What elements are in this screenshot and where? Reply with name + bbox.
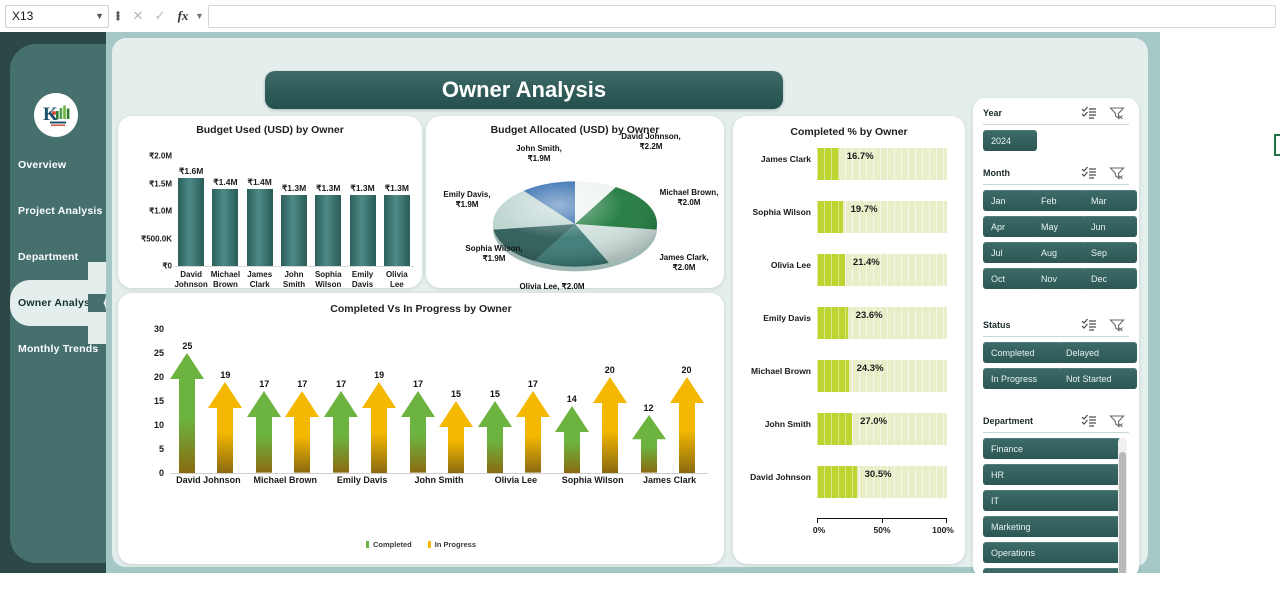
completed-percent-label: Emily Davis	[739, 313, 811, 323]
legend-swatch-completed	[366, 541, 369, 548]
slicer-item-jul[interactable]: Jul	[983, 242, 1037, 263]
slicer-item-dec[interactable]: Dec	[1083, 268, 1137, 289]
bar-chart-x-label: MichaelBrown	[208, 270, 242, 290]
axis-label-0: 0%	[813, 525, 825, 535]
slicer-year: Year2024	[973, 104, 1139, 126]
sheet-right-blank	[1160, 32, 1280, 611]
completed-percent-value: 24.3%	[857, 363, 884, 374]
bar-chart-value-label: ₹1.3M	[350, 183, 374, 194]
arrow-chart-value-label: 15	[478, 389, 512, 399]
clear-filter-icon[interactable]	[1109, 414, 1127, 430]
arrow-shape	[439, 401, 473, 473]
arrow-shape	[362, 382, 396, 473]
arrow-chart-value-label: 17	[516, 379, 550, 389]
formula-input[interactable]	[208, 5, 1276, 28]
arrow-chart-bar-in-progress: 17	[285, 391, 319, 473]
insert-function-icon[interactable]: fx	[171, 8, 195, 24]
arrow-chart-bar-completed: 17	[324, 391, 358, 473]
name-box-value: X13	[12, 9, 33, 23]
completed-percent-value: 23.6%	[856, 310, 883, 321]
arrow-chart-y-tick: 30	[154, 324, 164, 334]
bar-chart-column: ₹1.3M	[350, 156, 376, 266]
chart-card-completed-percent: Completed % by Owner James Clark16.7%Sop…	[733, 116, 965, 564]
arrow-chart-x-label: James Clark	[615, 475, 725, 485]
slicer-item-oct[interactable]: Oct	[983, 268, 1037, 289]
bar-chart-bar	[247, 189, 273, 266]
name-box[interactable]: X13 ▼	[5, 5, 109, 28]
arrow-shape	[478, 401, 512, 473]
completed-percent-value: 30.5%	[865, 469, 892, 480]
clear-filter-icon[interactable]	[1109, 106, 1127, 122]
arrow-chart-bar-in-progress: 17	[516, 391, 550, 473]
bar-chart-column: ₹1.6M	[178, 156, 204, 266]
bar-chart-column: ₹1.4M	[247, 156, 273, 266]
slicer-item-may[interactable]: May	[1033, 216, 1087, 237]
slicer-item-sep[interactable]: Sep	[1083, 242, 1137, 263]
excel-formula-bar: X13 ▼ ••• ✕ ✓ fx ▼	[0, 0, 1280, 33]
slicer-panel: Year2024MonthJanFebMarAprMayJunJulAugSep…	[973, 98, 1139, 578]
arrow-chart-group: 1420Sophia Wilson	[554, 329, 631, 473]
slicer-item-marketing[interactable]: Marketing	[983, 516, 1121, 537]
completed-percent-fill	[817, 413, 852, 445]
accept-icon[interactable]: ✓	[149, 8, 171, 24]
bar-chart-column: ₹1.3M	[315, 156, 341, 266]
slicer-department: DepartmentFinanceHRITMarketingOperations…	[973, 412, 1139, 434]
bar-chart-y-tick: ₹0	[162, 262, 172, 271]
arrow-chart-value-label: 17	[324, 379, 358, 389]
slicer-item-mar[interactable]: Mar	[1083, 190, 1137, 211]
multi-select-icon[interactable]	[1081, 106, 1099, 122]
arrow-chart-value-label: 12	[632, 403, 666, 413]
sidebar-item-owner-analysis[interactable]: Owner Analysis	[10, 280, 106, 326]
slicer-item-apr[interactable]: Apr	[983, 216, 1037, 237]
arrow-chart-group: 1517Olivia Lee	[477, 329, 554, 473]
sidebar-item-monthly-trends[interactable]: Monthly Trends	[10, 326, 106, 372]
slicer-status: StatusCompletedDelayedIn ProgressNot Sta…	[973, 316, 1139, 338]
completed-percent-value: 21.4%	[853, 257, 880, 268]
bar-chart-y-tick: ₹500.0K	[141, 234, 172, 243]
pie-label-olivia-lee: Olivia Lee, ₹2.0M	[514, 282, 590, 292]
arrow-chart-bar-in-progress: 19	[362, 382, 396, 473]
bar-chart-x-label: OliviaLee	[380, 270, 414, 290]
bar-chart-column: ₹1.4M	[212, 156, 238, 266]
arrow-chart-y-tick: 20	[154, 372, 164, 382]
chart-card-completed-vs-inprogress: Completed Vs In Progress by Owner 302520…	[118, 293, 724, 564]
arrow-shape	[401, 391, 435, 473]
completed-percent-fill	[817, 466, 857, 498]
chart-card-budget-allocated: Budget Allocated (USD) by Owner	[426, 116, 724, 288]
completed-percent-fill	[817, 360, 849, 392]
bar-chart-column: ₹1.3M	[384, 156, 410, 266]
slicer-item-completed[interactable]: Completed	[983, 342, 1062, 363]
arrow-chart-bar-completed: 17	[401, 391, 435, 473]
arrow-chart-y-tick: 5	[159, 444, 164, 454]
slicer-item-delayed[interactable]: Delayed	[1058, 342, 1137, 363]
slicer-title: Year	[983, 108, 1002, 118]
slicer-item-hr[interactable]: HR	[983, 464, 1121, 485]
axis-label-50: 50%	[873, 525, 890, 535]
arrow-shape	[670, 377, 704, 473]
bar-chart-bar	[178, 178, 204, 266]
cancel-icon[interactable]: ✕	[127, 8, 149, 24]
bar-chart-column: ₹1.3M	[281, 156, 307, 266]
arrow-shape	[208, 382, 242, 473]
slicer-header: Year	[973, 104, 1139, 126]
slicer-month: MonthJanFebMarAprMayJunJulAugSepOctNovDe…	[973, 164, 1139, 186]
bar-chart-bar	[315, 195, 341, 267]
arrow-chart-y-tick: 15	[154, 396, 164, 406]
bar-chart-value-label: ₹1.4M	[213, 177, 237, 188]
slicer-title: Month	[983, 168, 1010, 178]
sidebar-item-label: Overview	[18, 159, 66, 171]
arrow-chart-value-label: 15	[439, 389, 473, 399]
slicer-divider	[983, 432, 1129, 433]
completed-percent-track	[817, 201, 947, 233]
arrow-chart-value-label: 17	[247, 379, 281, 389]
arrow-chart-bar-completed: 17	[247, 391, 281, 473]
completed-percent-row: Emily Davis23.6%	[733, 301, 965, 345]
bar-chart-y-tick: ₹1.0M	[149, 207, 172, 216]
slicer-title: Department	[983, 416, 1033, 426]
slicer-scrollbar-track[interactable]	[1118, 438, 1127, 578]
arrow-chart-group: 1715John Smith	[401, 329, 478, 473]
bar-chart-x-label: EmilyDavis	[346, 270, 380, 290]
chart-title-completed-percent: Completed % by Owner	[733, 116, 965, 138]
arrow-chart-bar-completed: 25	[170, 353, 204, 473]
dashboard-canvas: K Overview Project Analysis	[0, 32, 1160, 573]
bar-chart-plot-area: ₹1.6M₹1.4M₹1.4M₹1.3M₹1.3M₹1.3M₹1.3M	[174, 156, 414, 267]
bar-chart-value-label: ₹1.3M	[282, 183, 306, 194]
multi-select-icon[interactable]	[1081, 166, 1099, 182]
slicer-scrollbar-thumb[interactable]	[1119, 452, 1126, 578]
legend-label-completed: Completed	[373, 540, 412, 549]
arrow-chart-bar-in-progress: 20	[670, 377, 704, 473]
company-logo: K	[34, 93, 78, 137]
sidebar-item-project-analysis[interactable]: Project Analysis	[10, 188, 106, 234]
slicer-header: Status	[973, 316, 1139, 338]
arrow-chart-bar-completed: 12	[632, 415, 666, 473]
bar-chart-budget-used: ₹2.0M₹1.5M₹1.0M₹500.0K₹0 ₹1.6M₹1.4M₹1.4M…	[118, 138, 422, 288]
arrow-shape	[516, 391, 550, 473]
clear-filter-icon[interactable]	[1109, 318, 1127, 334]
bar-chart-value-label: ₹1.6M	[179, 166, 203, 177]
arrow-chart-bar-in-progress: 15	[439, 401, 473, 473]
bar-chart-bar	[281, 195, 307, 267]
slicer-item-in-progress[interactable]: In Progress	[983, 368, 1062, 389]
arrow-chart-bar-in-progress: 19	[208, 382, 242, 473]
completed-percent-row: Olivia Lee21.4%	[733, 248, 965, 292]
arrow-shape	[555, 406, 589, 473]
completed-percent-label: David Johnson	[739, 472, 811, 482]
bar-chart-value-label: ₹1.4M	[248, 177, 272, 188]
chart-title-completed-vs-inprogress: Completed Vs In Progress by Owner	[118, 293, 724, 315]
completed-percent-label: Michael Brown	[739, 366, 811, 376]
slicer-title: Status	[983, 320, 1011, 330]
slicer-item-feb[interactable]: Feb	[1033, 190, 1087, 211]
completed-percent-fill	[817, 201, 843, 233]
multi-select-icon[interactable]	[1081, 414, 1099, 430]
arrow-chart-group: 1717Michael Brown	[247, 329, 324, 473]
pie-label-james-clark: James Clark, ₹2.0M	[648, 253, 720, 273]
arrow-chart-y-axis: 302520151050	[136, 329, 164, 473]
bar-chart-y-tick: ₹1.5M	[149, 179, 172, 188]
bar-chart-value-label: ₹1.3M	[316, 183, 340, 194]
arrow-chart-legend: Completed In Progress	[118, 540, 724, 549]
bar-chart-y-axis: ₹2.0M₹1.5M₹1.0M₹500.0K₹0	[124, 156, 172, 266]
sidebar-item-overview[interactable]: Overview	[10, 142, 106, 188]
completed-percent-value: 27.0%	[860, 416, 887, 427]
completed-percent-label: James Clark	[739, 154, 811, 164]
arrow-chart-value-label: 17	[401, 379, 435, 389]
formula-expand-chevron-icon[interactable]: ▼	[195, 11, 204, 21]
arrow-chart-group: 2519David Johnson	[170, 329, 247, 473]
slicer-item-2024[interactable]: 2024	[983, 130, 1037, 151]
chart-title-budget-used: Budget Used (USD) by Owner	[118, 116, 422, 136]
axis-tick-100	[946, 518, 947, 523]
pie-label-michael-brown: Michael Brown, ₹2.0M	[658, 188, 720, 208]
bar-chart-y-tick: ₹2.0M	[149, 152, 172, 161]
completed-percent-value: 16.7%	[847, 151, 874, 162]
sheet-bottom-blank	[0, 573, 1160, 611]
arrow-shape	[324, 391, 358, 473]
arrow-shape	[593, 377, 627, 473]
completed-percent-track	[817, 148, 947, 180]
legend-item-in-progress: In Progress	[428, 540, 476, 549]
completed-percent-row: John Smith27.0%	[733, 407, 965, 451]
arrow-chart-bar-completed: 14	[555, 406, 589, 473]
bar-chart-x-label: JohnSmith	[277, 270, 311, 290]
arrow-chart-value-label: 20	[670, 365, 704, 375]
completed-percent-row: Sophia Wilson19.7%	[733, 195, 965, 239]
arrow-chart-value-label: 20	[593, 365, 627, 375]
sidebar-nav: Overview Project Analysis Department Own…	[10, 142, 106, 372]
completed-percent-row: Michael Brown24.3%	[733, 354, 965, 398]
pie-label-david-johnson: David Johnson, ₹2.2M	[618, 132, 684, 152]
completed-percent-label: Sophia Wilson	[739, 207, 811, 217]
chevron-down-icon[interactable]: ▼	[95, 11, 104, 21]
slicer-item-aug[interactable]: Aug	[1033, 242, 1087, 263]
more-options-icon[interactable]: •••	[111, 12, 125, 21]
bar-chart-bar	[212, 189, 238, 266]
arrow-shape	[285, 391, 319, 473]
slicer-item-finance[interactable]: Finance	[983, 438, 1121, 459]
bar-chart-value-label: ₹1.3M	[385, 183, 409, 194]
arrow-chart-group: 1719Emily Davis	[324, 329, 401, 473]
page-title: Owner Analysis	[265, 71, 783, 109]
arrow-chart-y-tick: 10	[154, 420, 164, 430]
slicer-item-jan[interactable]: Jan	[983, 190, 1037, 211]
slicer-divider	[983, 336, 1129, 337]
axis-tick-50	[882, 518, 883, 523]
arrow-chart-value-label: 14	[555, 394, 589, 404]
bar-chart-x-label: JamesClark	[243, 270, 277, 290]
worksheet-area: K Overview Project Analysis	[0, 32, 1280, 611]
sidebar: K Overview Project Analysis	[0, 32, 106, 573]
pie-label-john-smith: John Smith, ₹1.9M	[504, 144, 574, 164]
slicer-item-not-started[interactable]: Not Started	[1058, 368, 1137, 389]
arrow-chart-bar-completed: 15	[478, 401, 512, 473]
legend-swatch-in-progress	[428, 541, 431, 548]
slicer-item-it[interactable]: IT	[983, 490, 1121, 511]
bar-chart-bar	[384, 195, 410, 267]
arrow-chart-value-label: 17	[285, 379, 319, 389]
sidebar-item-label: Monthly Trends	[18, 343, 98, 355]
slicer-header: Department	[973, 412, 1139, 434]
completed-percent-track	[817, 254, 947, 286]
clear-filter-icon[interactable]	[1109, 166, 1127, 182]
arrow-chart-plot-area: 2519David Johnson1717Michael Brown1719Em…	[170, 329, 708, 474]
arrow-chart-group: 1220James Clark	[631, 329, 708, 473]
completed-percent-fill	[817, 307, 848, 339]
arrow-chart-bar-in-progress: 20	[593, 377, 627, 473]
legend-item-completed: Completed	[366, 540, 412, 549]
completed-percent-fill	[817, 148, 839, 180]
chart-card-budget-used: Budget Used (USD) by Owner ₹2.0M₹1.5M₹1.…	[118, 116, 422, 288]
slicer-item-operations[interactable]: Operations	[983, 542, 1121, 563]
slicer-item-jun[interactable]: Jun	[1083, 216, 1137, 237]
arrow-shape	[632, 415, 666, 473]
arrow-chart-y-tick: 25	[154, 348, 164, 358]
pie-label-sophia-wilson: Sophia Wilson, ₹1.9M	[464, 244, 524, 264]
axis-label-100: 100%	[932, 525, 954, 535]
legend-label-in-progress: In Progress	[435, 540, 476, 549]
sidebar-item-label: Department	[18, 251, 78, 263]
completed-percent-row: David Johnson30.5%	[733, 460, 965, 504]
pie-label-emily-davis: Emily Davis, ₹1.9M	[432, 190, 502, 210]
completed-percent-value: 19.7%	[851, 204, 878, 215]
completed-percent-label: Olivia Lee	[739, 260, 811, 270]
bar-chart-x-label: SophiaWilson	[311, 270, 345, 290]
slicer-divider	[983, 124, 1129, 125]
bar-chart-bar	[350, 195, 376, 267]
completed-percent-row: James Clark16.7%	[733, 142, 965, 186]
arrow-shape	[247, 391, 281, 473]
slicer-header: Month	[973, 164, 1139, 186]
arrow-shape	[170, 353, 204, 473]
completed-percent-label: John Smith	[739, 419, 811, 429]
axis-tick-0	[817, 518, 818, 523]
completed-percent-fill	[817, 254, 845, 286]
slicer-divider	[983, 184, 1129, 185]
multi-select-icon[interactable]	[1081, 318, 1099, 334]
bar-chart-x-label: DavidJohnson	[174, 270, 208, 290]
arrow-chart-value-label: 19	[362, 370, 396, 380]
excel-cell-cursor[interactable]	[1274, 134, 1280, 156]
slicer-item-nov[interactable]: Nov	[1033, 268, 1087, 289]
arrow-chart-value-label: 25	[170, 341, 204, 351]
pie-chart-budget-allocated: David Johnson, ₹2.2M Michael Brown, ₹2.0…	[426, 136, 724, 288]
arrow-chart-value-label: 19	[208, 370, 242, 380]
sidebar-item-label: Project Analysis	[18, 205, 103, 217]
